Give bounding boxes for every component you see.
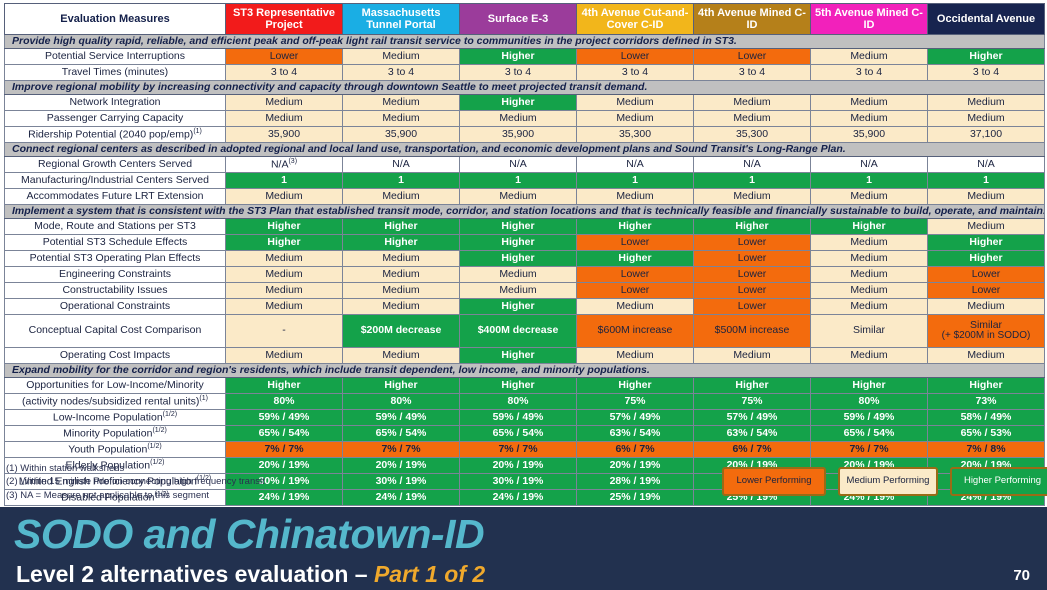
measure-label-text: (activity nodes/subsidized rental units) [22,396,199,408]
rating-cell-text: 7% / 7% [264,443,303,455]
rating-cell: Medium [343,348,460,364]
header-alternative-1: ST3 Representative Project [226,4,343,35]
rating-cell: Medium [460,267,577,283]
rating-cell-text: 65% / 54% [844,427,895,439]
measure-label-text: Manufacturing/Industrial Centers Served [21,174,209,186]
rating-cell: 7% / 7% [343,442,460,458]
rating-cell: Similar(+ $200M in SODO) [928,315,1045,348]
rating-cell: 7% / 7% [226,442,343,458]
rating-cell: Higher [460,299,577,315]
table-row: Ridership Potential (2040 pop/emp)(1)35,… [5,127,1045,143]
rating-cell: N/A [343,157,460,173]
rating-cell: 1 [811,173,928,189]
rating-cell: Medium [694,111,811,127]
table-row: Engineering ConstraintsMediumMediumMediu… [5,267,1045,283]
measure-label: Accommodates Future LRT Extension [5,189,226,205]
rating-cell: 63% / 54% [694,426,811,442]
rating-cell: Lower [694,267,811,283]
rating-cell: N/A [694,157,811,173]
rating-cell: 75% [694,394,811,410]
rating-cell-text: Lower [738,236,767,248]
rating-cell-text: N/A [743,158,761,170]
rating-cell: $400M decrease [460,315,577,348]
rating-cell: 1 [460,173,577,189]
measure-label-text: Accommodates Future LRT Extension [26,190,203,202]
rating-cell-text: Medium [499,268,536,280]
rating-cell-text: 1 [749,174,755,186]
rating-cell-text: Higher [501,236,534,248]
rating-cell-text: 65% / 53% [961,427,1012,439]
rating-cell: 1 [928,173,1045,189]
rating-cell: 65% / 54% [343,426,460,442]
table-row: Network IntegrationMediumMediumHigherMed… [5,95,1045,111]
rating-cell-text: Higher [618,379,651,391]
rating-cell-text: Medium [265,190,302,202]
rating-cell: 75% [577,394,694,410]
measure-label-text: Minority Population [63,428,152,440]
rating-cell: Higher [928,251,1045,267]
slide-root: Evaluation Measures ST3 Representative P… [0,0,1047,590]
evaluation-matrix-table: Evaluation Measures ST3 Representative P… [4,3,1045,506]
rating-cell-text: Medium [382,349,419,361]
page-number: 70 [1013,567,1030,584]
rating-cell: Medium [226,267,343,283]
rating-cell-text: 1 [866,174,872,186]
measure-label: Potential Service Interruptions [5,49,226,65]
rating-cell: 28% / 19% [577,474,694,490]
rating-cell-text: Higher [501,300,534,312]
rating-cell-text: Medium [382,190,419,202]
rating-cell: Higher [577,251,694,267]
rating-cell-text: Lower [738,284,767,296]
measure-label-text: Low-Income Population [53,412,163,424]
rating-cell-text: Higher [267,379,300,391]
measure-label: Engineering Constraints [5,267,226,283]
rating-cell: N/A [811,157,928,173]
rating-cell: Medium [343,49,460,65]
table-row: Low-Income Population(1/2)59% / 49%59% /… [5,410,1045,426]
rating-cell: 80% [811,394,928,410]
rating-cell-text: 20% / 19% [493,459,544,471]
rating-cell-text: Higher [501,96,534,108]
matrix-body: Provide high quality rapid, reliable, an… [5,35,1045,506]
table-row: Travel Times (minutes)3 to 43 to 43 to 4… [5,65,1045,81]
section-band-label: Implement a system that is consistent wi… [5,205,1045,219]
rating-cell: Medium [226,111,343,127]
rating-cell: N/A [577,157,694,173]
rating-cell: - [226,315,343,348]
table-row: Potential ST3 Schedule EffectsHigherHigh… [5,235,1045,251]
measure-label: Operating Cost Impacts [5,348,226,364]
rating-cell: Medium [928,348,1045,364]
rating-cell-text: Medium [382,268,419,280]
rating-cell: Similar [811,315,928,348]
rating-cell-text: Lower [621,50,650,62]
rating-cell-text: $600M increase [598,324,673,336]
rating-cell-text: 37,100 [970,128,1002,140]
rating-cell: N/A(3) [226,157,343,173]
rating-cell: 35,900 [226,127,343,143]
rating-cell-text: Medium [265,284,302,296]
rating-cell-text: 1 [632,174,638,186]
rating-cell: 1 [577,173,694,189]
rating-cell: 24% / 19% [460,490,577,506]
rating-cell-text: Medium [967,300,1004,312]
rating-cell: Medium [811,251,928,267]
rating-cell-text: Medium [733,96,770,108]
rating-cell-text: Higher [501,220,534,232]
rating-cell-text: Higher [618,220,651,232]
measure-label: Manufacturing/Industrial Centers Served [5,173,226,189]
section-band-row: Provide high quality rapid, reliable, an… [5,35,1045,49]
measure-label: Minority Population(1/2) [5,426,226,442]
measure-label: Regional Growth Centers Served [5,157,226,173]
rating-cell: N/A [460,157,577,173]
rating-cell: 35,900 [811,127,928,143]
rating-cell-text: 35,900 [385,128,417,140]
rating-cell-text: Medium [850,190,887,202]
rating-cell: $600M increase [577,315,694,348]
table-row: Operating Cost ImpactsMediumMediumHigher… [5,348,1045,364]
slide-subtitle-part: Part 1 of 2 [374,561,485,587]
rating-cell: Higher [577,219,694,235]
rating-cell: Medium [811,299,928,315]
measure-label-text: Network Integration [69,96,160,108]
rating-cell-text: Lower [738,300,767,312]
rating-cell-text: 1 [281,174,287,186]
rating-cell-text: N/A [392,158,410,170]
table-row: Youth Population(1/2)7% / 7%7% / 7%7% / … [5,442,1045,458]
rating-cell: 80% [226,394,343,410]
section-band-row: Improve regional mobility by increasing … [5,81,1045,95]
rating-cell: Lower [694,235,811,251]
measure-label: Network Integration [5,95,226,111]
table-row: Operational ConstraintsMediumMediumHighe… [5,299,1045,315]
rating-cell: 3 to 4 [460,65,577,81]
measure-label: Potential ST3 Operating Plan Effects [5,251,226,267]
rating-cell-text: 7% / 7% [498,443,537,455]
rating-cell-text: 80% [390,395,411,407]
rating-cell: 6% / 7% [577,442,694,458]
rating-cell: 35,900 [460,127,577,143]
rating-cell: Lower [694,49,811,65]
measure-label-text: Potential Service Interruptions [45,50,185,62]
rating-cell-text: Medium [967,112,1004,124]
rating-cell-text: Lower [621,268,650,280]
measure-label: Travel Times (minutes) [5,65,226,81]
rating-cell-text: 3 to 4 [973,66,999,78]
rating-cell-text: Lower [270,50,299,62]
rating-cell: N/A [928,157,1045,173]
measure-label-text: Potential ST3 Operating Plan Effects [30,252,201,264]
table-row: Regional Growth Centers ServedN/A(3)N/AN… [5,157,1045,173]
rating-cell: 20% / 19% [343,458,460,474]
rating-cell: Medium [343,111,460,127]
performance-legend: Lower Performing Medium Performing Highe… [722,467,1047,496]
measure-footnote-marker: (1/2) [152,427,166,434]
rating-cell: Medium [694,189,811,205]
rating-cell: Medium [694,95,811,111]
rating-cell: Higher [928,49,1045,65]
rating-cell-text: 35,900 [268,128,300,140]
measure-label: Potential ST3 Schedule Effects [5,235,226,251]
footnote-item: (3) NA = Measure not applicable to this … [6,489,265,502]
rating-cell: Higher [577,378,694,394]
rating-cell-text: Medium [616,300,653,312]
rating-cell-text: 75% [624,395,645,407]
rating-cell-text: Medium [616,112,653,124]
rating-cell: Medium [577,348,694,364]
rating-cell-text: Medium [265,349,302,361]
rating-cell-text: 7% / 7% [381,443,420,455]
rating-cell-text: 7% / 7% [849,443,888,455]
rating-cell-text: Higher [384,236,417,248]
rating-cell: $500M increase [694,315,811,348]
rating-cell-text: 63% / 54% [610,427,661,439]
rating-cell-text: 24% / 19% [376,491,427,503]
rating-cell: Lower [577,49,694,65]
rating-cell: Medium [343,299,460,315]
rating-cell: 65% / 53% [928,426,1045,442]
rating-cell-text: Lower [621,284,650,296]
rating-cell: Higher [460,49,577,65]
header-alternative-5: 4th Avenue Mined C-ID [694,4,811,35]
rating-cell: Higher [343,378,460,394]
rating-cell-text: 63% / 54% [727,427,778,439]
rating-cell: 1 [343,173,460,189]
rating-cell-text: 6% / 7% [732,443,771,455]
rating-cell: Medium [460,111,577,127]
rating-cell: 65% / 54% [226,426,343,442]
table-row: Mode, Route and Stations per ST3HigherHi… [5,219,1045,235]
rating-cell-text: Higher [384,220,417,232]
rating-cell: 59% / 49% [811,410,928,426]
rating-cell: 35,900 [343,127,460,143]
measure-footnote-marker: (1/2) [147,443,161,450]
rating-cell: 30% / 19% [343,474,460,490]
rating-cell: Higher [928,235,1045,251]
measure-label-text: Regional Growth Centers Served [38,158,192,170]
rating-cell-text: Medium [265,252,302,264]
rating-cell-text: Higher [618,252,651,264]
rating-cell-text: Medium [967,349,1004,361]
rating-cell-text: Medium [850,268,887,280]
measure-label-text: Passenger Carrying Capacity [47,112,184,124]
header-alternative-4: 4th Avenue Cut-and-Cover C-ID [577,4,694,35]
section-band-row: Connect regional centers as described in… [5,143,1045,157]
rating-cell-text: 3 to 4 [271,66,297,78]
rating-cell-text: Medium [850,349,887,361]
cell-footnote-marker: (3) [288,158,297,165]
rating-cell: Medium [226,348,343,364]
evaluation-matrix-container: Evaluation Measures ST3 Representative P… [4,3,1043,506]
rating-cell: Higher [343,219,460,235]
rating-cell: Medium [928,189,1045,205]
rating-cell: Lower [577,283,694,299]
rating-cell-text: Higher [735,379,768,391]
rating-cell-text: 80% [858,395,879,407]
header-alternative-7: Occidental Avenue [928,4,1045,35]
table-row: Manufacturing/Industrial Centers Served1… [5,173,1045,189]
rating-cell: Medium [226,251,343,267]
rating-cell-text: 1 [515,174,521,186]
rating-cell-text: 57% / 49% [727,411,778,423]
rating-cell-text: Higher [969,252,1002,264]
rating-cell: Lower [694,299,811,315]
rating-cell-text: Medium [499,112,536,124]
measure-label-text: Travel Times (minutes) [62,66,168,78]
rating-cell-text: 1 [398,174,404,186]
header-evaluation-measures: Evaluation Measures [5,4,226,35]
rating-cell-text: 35,900 [853,128,885,140]
measure-label: Conceptual Capital Cost Comparison [5,315,226,348]
measure-label-text: Potential ST3 Schedule Effects [43,236,188,248]
rating-cell: 6% / 7% [694,442,811,458]
rating-cell: Medium [343,95,460,111]
rating-cell: 59% / 49% [343,410,460,426]
measure-label-text: Constructability Issues [62,284,167,296]
rating-cell-text: Medium [382,300,419,312]
rating-cell-text: Higher [501,379,534,391]
rating-cell: 30% / 19% [460,474,577,490]
rating-cell-text: 57% / 49% [610,411,661,423]
rating-cell: Medium [577,299,694,315]
rating-cell: 57% / 49% [577,410,694,426]
rating-cell-text: 3 to 4 [388,66,414,78]
rating-cell-text: 30% / 19% [376,475,427,487]
rating-cell-text: 30% / 19% [493,475,544,487]
rating-cell-text: 20% / 19% [610,459,661,471]
rating-cell-text: Lower [738,268,767,280]
rating-cell-text: Higher [384,379,417,391]
rating-cell-text: 25% / 19% [610,491,661,503]
rating-cell: 7% / 7% [460,442,577,458]
rating-cell-text: Higher [852,379,885,391]
rating-cell-text: Medium [967,190,1004,202]
rating-cell: 63% / 54% [577,426,694,442]
rating-cell: 7% / 7% [811,442,928,458]
table-row: Passenger Carrying CapacityMediumMediumM… [5,111,1045,127]
rating-cell: Medium [811,49,928,65]
rating-cell-text: Higher [501,252,534,264]
rating-cell: Medium [811,189,928,205]
rating-cell-text: - [282,324,286,336]
rating-cell: Medium [811,235,928,251]
rating-cell: Medium [226,189,343,205]
rating-cell-text: 80% [273,395,294,407]
rating-cell: Higher [811,378,928,394]
rating-cell-text: 59% / 49% [376,411,427,423]
rating-cell-text: Higher [852,220,885,232]
rating-cell: Medium [343,189,460,205]
rating-cell: Medium [226,299,343,315]
rating-cell-text: Medium [850,252,887,264]
rating-cell: 3 to 4 [226,65,343,81]
rating-cell: Higher [226,235,343,251]
slide-title: SODO and Chinatown-ID [14,511,484,558]
measure-label: Mode, Route and Stations per ST3 [5,219,226,235]
rating-cell: 24% / 19% [343,490,460,506]
rating-cell: 80% [460,394,577,410]
rating-cell: Medium [811,267,928,283]
matrix-head: Evaluation Measures ST3 Representative P… [5,4,1045,35]
rating-cell-text: Medium [265,268,302,280]
measure-label-text: Mode, Route and Stations per ST3 [34,220,196,232]
rating-cell-text: 28% / 19% [610,475,661,487]
rating-cell: Medium [928,95,1045,111]
rating-cell: Medium [811,95,928,111]
legend-lower-performing: Lower Performing [722,467,826,496]
rating-cell: Medium [577,95,694,111]
rating-cell: $200M decrease [343,315,460,348]
rating-cell-text: 20% / 19% [259,459,310,471]
footnote-item: (1) Within station walksheds [6,462,265,475]
rating-cell: 35,300 [694,127,811,143]
rating-cell: 35,300 [577,127,694,143]
measure-label: Ridership Potential (2040 pop/emp)(1) [5,127,226,143]
measure-footnote-marker: (1) [199,395,208,402]
rating-cell-text: Higher [969,379,1002,391]
rating-cell-text: Medium [265,300,302,312]
rating-cell-text: Medium [850,96,887,108]
rating-cell-text: Medium [382,112,419,124]
rating-cell-text: N/A [977,158,995,170]
rating-cell-text: Medium [499,284,536,296]
rating-cell: Higher [460,378,577,394]
measure-label: Low-Income Population(1/2) [5,410,226,426]
rating-cell-text: Medium [616,190,653,202]
section-band-label: Improve regional mobility by increasing … [5,81,1045,95]
rating-cell: Medium [694,348,811,364]
measure-label-text: Youth Population [68,444,147,456]
rating-cell-text: 24% / 19% [259,491,310,503]
rating-cell-text: $200M decrease [361,324,442,336]
rating-cell-text: Medium [382,96,419,108]
slide-subtitle-plain: Level 2 alternatives evaluation – [16,561,374,587]
rating-cell-text: Medium [967,220,1004,232]
rating-cell-text: 73% [975,395,996,407]
rating-cell-text: Medium [382,50,419,62]
measure-label: Youth Population(1/2) [5,442,226,458]
measure-label: Passenger Carrying Capacity [5,111,226,127]
table-row: (activity nodes/subsidized rental units)… [5,394,1045,410]
table-row: Potential ST3 Operating Plan EffectsMedi… [5,251,1045,267]
rating-cell: Medium [928,219,1045,235]
rating-cell-text: Medium [850,50,887,62]
rating-cell: 58% / 49% [928,410,1045,426]
section-band-label: Expand mobility for the corridor and reg… [5,364,1045,378]
rating-cell-text: 35,900 [502,128,534,140]
rating-cell-text: Lower [972,284,1001,296]
rating-cell: 25% / 19% [577,490,694,506]
rating-cell: Medium [226,95,343,111]
rating-cell-text: 80% [507,395,528,407]
rating-cell: 3 to 4 [811,65,928,81]
rating-cell: Higher [460,235,577,251]
table-row: Potential Service InterruptionsLowerMedi… [5,49,1045,65]
rating-cell: Medium [811,111,928,127]
rating-cell-text: Medium [850,236,887,248]
rating-cell: Medium [811,283,928,299]
rating-cell-text: Medium [850,300,887,312]
rating-cell-text: Medium [733,349,770,361]
measure-footnote-marker: (1/2) [163,411,177,418]
rating-cell-text: 3 to 4 [622,66,648,78]
rating-cell-text: $400M decrease [478,324,559,336]
rating-cell-text: 35,300 [619,128,651,140]
footnote-item: (2) Within 15 minute ride on connecting … [6,475,265,488]
rating-cell: Lower [577,235,694,251]
